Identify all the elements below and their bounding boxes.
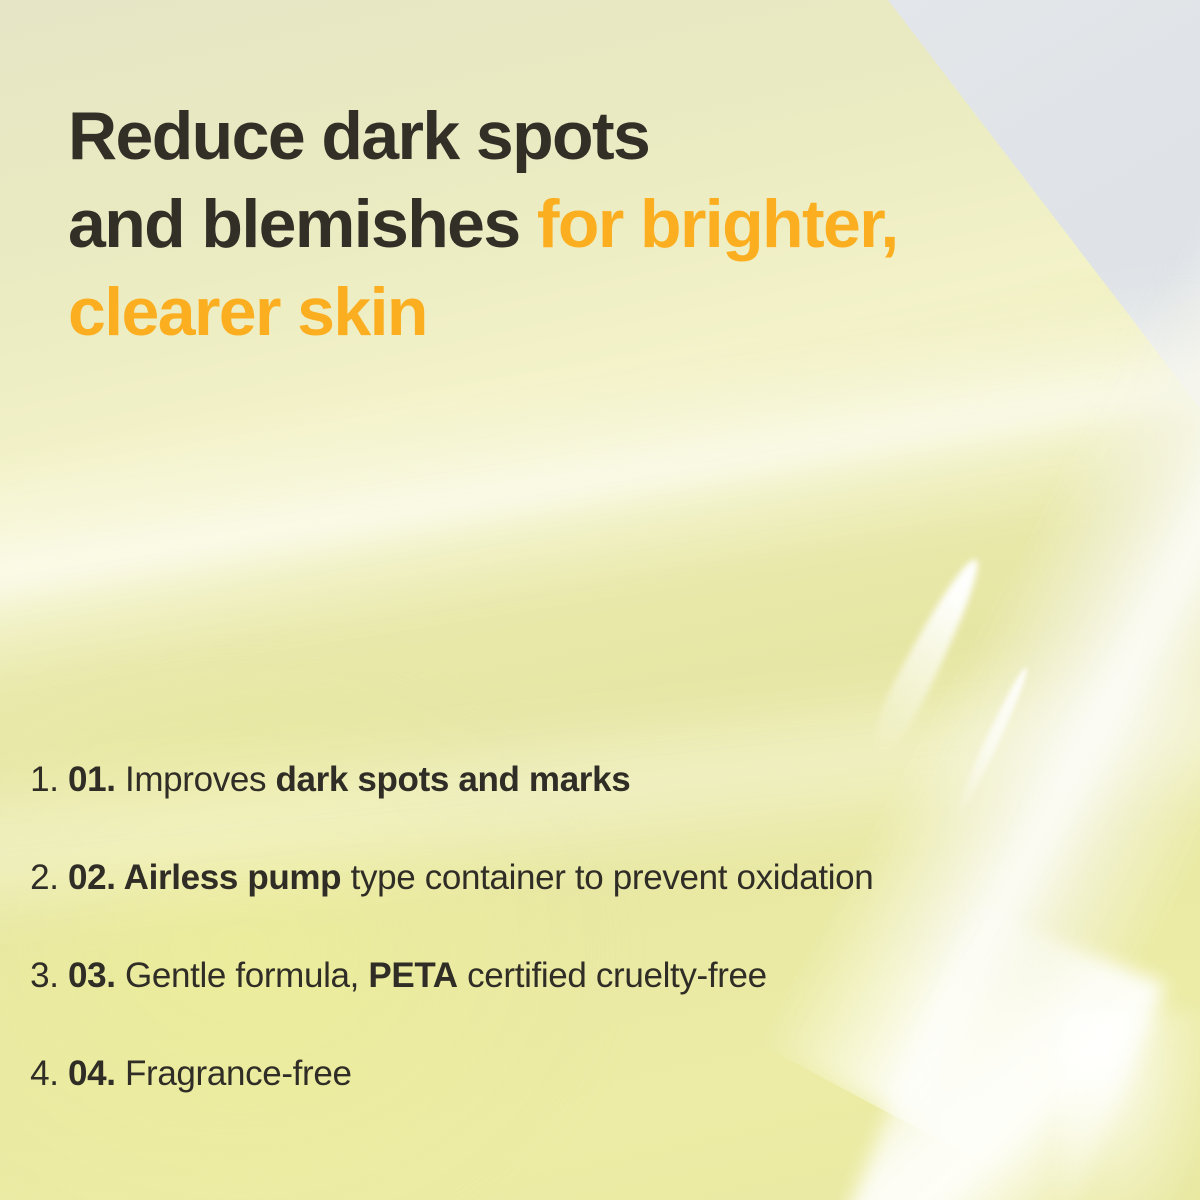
feature-text: certified cruelty-free <box>458 956 767 995</box>
headline-line-1: Reduce dark spots <box>68 98 649 174</box>
feature-text: Gentle formula, <box>116 956 369 995</box>
feature-number: 04. <box>68 1054 116 1093</box>
page-title: Reduce dark spots and blemishes for brig… <box>68 92 1158 356</box>
headline-line-2-dark: and blemishes <box>68 186 537 262</box>
feature-item-02: 02. Airless pump type container to preve… <box>68 858 1148 898</box>
headline-line-3-accent: clearer skin <box>68 274 427 350</box>
headline-line-2-accent: for brighter, <box>537 186 898 262</box>
feature-text-emphasis: dark spots and marks <box>276 760 631 799</box>
feature-text-emphasis: Airless pump <box>116 858 342 897</box>
feature-number: 03. <box>68 956 116 995</box>
feature-item-03: 03. Gentle formula, PETA certified cruel… <box>68 956 1148 996</box>
feature-text: Fragrance-free <box>116 1054 352 1093</box>
feature-list: 01. Improves dark spots and marks02. Air… <box>68 760 1148 1094</box>
feature-text: Improves <box>116 760 276 799</box>
feature-number: 01. <box>68 760 116 799</box>
feature-number: 02. <box>68 858 116 897</box>
feature-item-04: 04. Fragrance-free <box>68 1054 1148 1094</box>
content-layer: Reduce dark spots and blemishes for brig… <box>0 0 1200 1200</box>
feature-text-emphasis: PETA <box>368 956 457 995</box>
feature-text: type container to prevent oxidation <box>341 858 873 897</box>
feature-item-01: 01. Improves dark spots and marks <box>68 760 1148 800</box>
